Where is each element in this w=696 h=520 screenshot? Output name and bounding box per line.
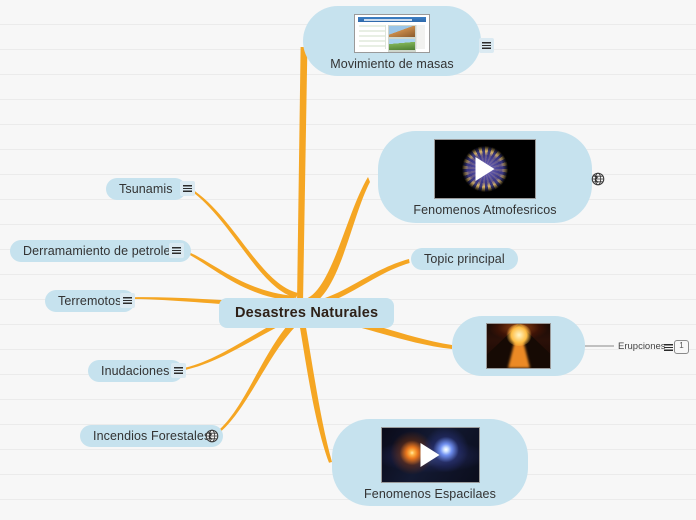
doc-photo-3 <box>388 51 416 53</box>
count-badge[interactable]: 1 <box>674 340 689 354</box>
node-fenomenos-atmofesricos[interactable]: Fenomenos Atmofesricos <box>378 131 592 223</box>
globe-icon[interactable] <box>591 172 605 186</box>
mindmap-canvas[interactable]: Desastres Naturales Movimiento de masas … <box>0 0 696 520</box>
video-thumbnail[interactable] <box>434 139 536 199</box>
node-label: Tsunamis <box>119 183 173 196</box>
video-thumbnail[interactable] <box>381 427 480 483</box>
node-movimiento-de-masas[interactable]: Movimiento de masas <box>303 6 481 76</box>
node-derramamiento-de-petroleo[interactable]: Derramamiento de petroleo <box>10 240 191 262</box>
doc-header-bar <box>358 17 426 22</box>
note-icon[interactable] <box>479 38 494 53</box>
node-label: Incendios Forestales <box>93 430 210 443</box>
note-icon[interactable] <box>120 293 135 308</box>
doc-text-column <box>359 25 386 49</box>
play-icon[interactable] <box>476 157 495 181</box>
node-label: Inudaciones <box>101 365 170 378</box>
doc-side-column <box>416 25 425 49</box>
webpage-screenshot-thumbnail[interactable] <box>354 14 430 53</box>
node-incendios-forestales[interactable]: Incendios Forestales <box>80 425 223 447</box>
node-label: Derramamiento de petroleo <box>23 245 178 258</box>
note-icon[interactable] <box>180 181 195 196</box>
volcano-photo-thumbnail[interactable] <box>486 323 551 369</box>
node-label: Movimiento de masas <box>330 58 453 71</box>
note-icon[interactable] <box>171 363 186 378</box>
central-node-label: Desastres Naturales <box>235 306 378 321</box>
node-inudaciones[interactable]: Inudaciones <box>88 360 183 382</box>
node-label: Fenomenos Espacilaes <box>364 488 496 501</box>
note-icon[interactable] <box>169 243 184 258</box>
play-icon[interactable] <box>421 443 440 467</box>
node-topic-principal[interactable]: Topic principal <box>411 248 518 270</box>
node-fenomenos-espacilaes[interactable]: Fenomenos Espacilaes <box>332 419 528 506</box>
node-erupciones-image[interactable] <box>452 316 585 376</box>
erupciones-label: Erupciones <box>618 341 666 352</box>
node-label: Fenomenos Atmofesricos <box>413 204 556 217</box>
node-label: Topic principal <box>424 253 505 266</box>
doc-photo-1 <box>388 25 416 38</box>
node-tsunamis[interactable]: Tsunamis <box>106 178 186 200</box>
node-label: Terremotos <box>58 295 122 308</box>
central-node[interactable]: Desastres Naturales <box>219 298 394 328</box>
doc-photo-2 <box>388 38 416 51</box>
volcano-glow <box>506 324 532 346</box>
globe-icon[interactable] <box>205 429 219 443</box>
